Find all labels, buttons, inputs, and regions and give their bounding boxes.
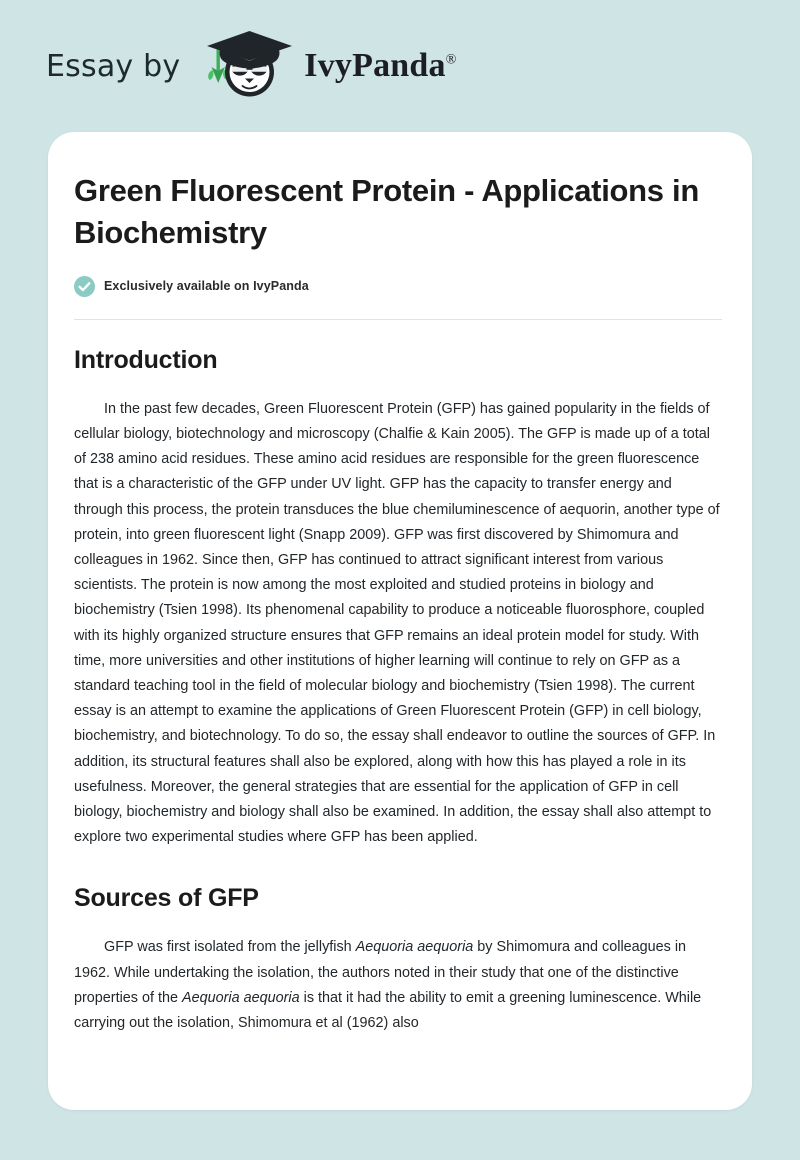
exclusive-badge-label: Exclusively available on IvyPanda: [104, 279, 309, 293]
brand-header: Essay by: [0, 0, 800, 132]
title-divider: [74, 319, 722, 320]
panda-graduate-icon: [196, 27, 300, 105]
registered-mark: ®: [446, 53, 457, 68]
sources-text-part-1: GFP was first isolated from the jellyfis…: [104, 939, 356, 955]
ivypanda-wordmark: IvyPanda®: [304, 47, 456, 85]
wordmark-text: IvyPanda: [304, 47, 445, 84]
species-name-2: Aequoria aequoria: [182, 990, 300, 1006]
page-title: Green Fluorescent Protein - Applications…: [74, 170, 722, 254]
species-name-1: Aequoria aequoria: [356, 939, 474, 955]
section-heading-sources-of-gfp: Sources of GFP: [74, 884, 722, 913]
sources-paragraph: GFP was first isolated from the jellyfis…: [74, 935, 722, 1036]
check-circle-icon: [74, 276, 95, 297]
ivypanda-logo-link[interactable]: IvyPanda®: [196, 27, 456, 105]
introduction-paragraph: In the past few decades, Green Fluoresce…: [74, 397, 722, 851]
exclusive-badge: Exclusively available on IvyPanda: [74, 276, 722, 297]
section-heading-introduction: Introduction: [74, 346, 722, 375]
essay-by-label: Essay by: [46, 49, 180, 84]
essay-card: Green Fluorescent Protein - Applications…: [48, 132, 752, 1110]
